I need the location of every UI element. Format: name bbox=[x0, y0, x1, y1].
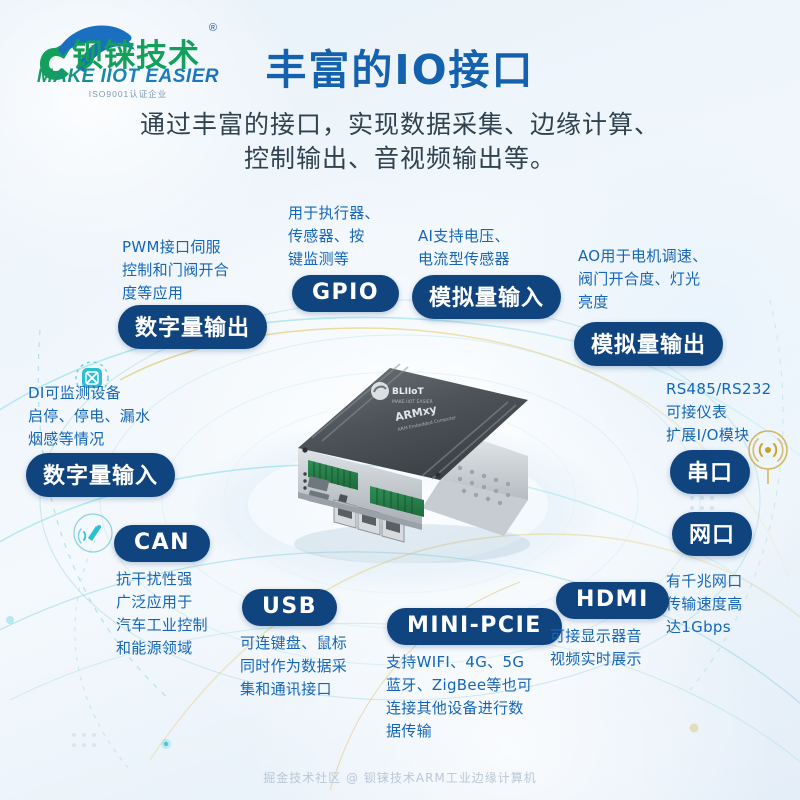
registered-mark: ® bbox=[209, 22, 217, 34]
desc-line: 同时作为数据采 bbox=[240, 655, 347, 678]
desc-ethernet-port: 有千兆网口 传输速度高 达1Gbps bbox=[666, 570, 743, 639]
desc-digital-input: DI可监测设备 启停、停电、漏水 烟感等情况 bbox=[28, 382, 150, 451]
desc-line: 启停、停电、漏水 bbox=[28, 405, 150, 428]
desc-line: DI可监测设备 bbox=[28, 382, 150, 405]
desc-line: 广泛应用于 bbox=[116, 591, 208, 614]
desc-analog-output: AO用于电机调速、 阀门开合度、灯光 亮度 bbox=[578, 245, 708, 314]
desc-mini-pcie: 支持WIFI、4G、5G 蓝牙、ZigBee等也可 连接其他设备进行数 据传输 bbox=[386, 651, 532, 743]
desc-line: 传输速度高 bbox=[666, 593, 743, 616]
desc-line: 亮度 bbox=[578, 291, 708, 314]
desc-line: 可连键盘、鼠标 bbox=[240, 632, 347, 655]
badge-hdmi[interactable]: HDMI bbox=[556, 582, 669, 619]
desc-digital-output: PWM接口伺服 控制和门阀开合 度等应用 bbox=[122, 236, 229, 305]
badge-mini-pcie[interactable]: MINI-PCIE bbox=[387, 608, 562, 645]
page-subtitle: 通过丰富的接口，实现数据采集、边缘计算、 控制输出、音视频输出等。 bbox=[0, 108, 800, 176]
badge-can[interactable]: CAN bbox=[114, 525, 210, 562]
badge-serial-port[interactable]: 串口 bbox=[670, 450, 750, 494]
badge-digital-input[interactable]: 数字量输入 bbox=[26, 453, 175, 497]
device-illustration: BLIIoT MAKE IIOT EASIER ARMxy ARM Embedd… bbox=[272, 348, 540, 563]
badge-digital-output[interactable]: 数字量输出 bbox=[118, 305, 267, 349]
desc-line: 传感器、按 bbox=[288, 225, 380, 248]
desc-line: 有千兆网口 bbox=[666, 570, 743, 593]
desc-line: 集和通讯接口 bbox=[240, 678, 347, 701]
desc-line: AO用于电机调速、 bbox=[578, 245, 708, 268]
desc-line: 键监测等 bbox=[288, 248, 380, 271]
desc-line: 据传输 bbox=[386, 720, 532, 743]
desc-line: 支持WIFI、4G、5G bbox=[386, 651, 532, 674]
svg-text:BLIIoT: BLIIoT bbox=[392, 387, 424, 397]
infographic-canvas: 钡铼技术 ® MAKE IIOT EASIER ISO9001认证企业 丰富的I… bbox=[0, 0, 800, 800]
page-title: 丰富的IO接口 bbox=[0, 36, 800, 96]
can-bus-icon bbox=[72, 512, 114, 559]
badge-analog-output[interactable]: 模拟量输出 bbox=[574, 322, 723, 366]
badge-analog-input[interactable]: 模拟量输入 bbox=[412, 275, 561, 319]
desc-serial-port: RS485/RS232 可接仪表 扩展I/O模块 bbox=[666, 378, 772, 447]
badge-usb[interactable]: USB bbox=[242, 589, 337, 626]
desc-line: 可接仪表 bbox=[666, 401, 772, 424]
desc-line: 蓝牙、ZigBee等也可 bbox=[386, 674, 532, 697]
desc-line: 连接其他设备进行数 bbox=[386, 697, 532, 720]
desc-line: 用于执行器、 bbox=[288, 202, 380, 225]
footer-watermark: 掘金技术社区 @ 钡铼技术ARM工业边缘计算机 bbox=[0, 769, 800, 786]
desc-line: 达1Gbps bbox=[666, 616, 743, 639]
badge-gpio[interactable]: GPIO bbox=[292, 275, 399, 312]
desc-usb: 可连键盘、鼠标 同时作为数据采 集和通讯接口 bbox=[240, 632, 347, 701]
subtitle-line-2: 控制输出、音视频输出等。 bbox=[0, 142, 800, 176]
desc-line: 可接显示器音 bbox=[550, 625, 642, 648]
desc-line: 控制和门阀开合 bbox=[122, 259, 229, 282]
desc-hdmi: 可接显示器音 视频实时展示 bbox=[550, 625, 642, 671]
desc-line: 和能源领域 bbox=[116, 637, 208, 660]
desc-line: 扩展I/O模块 bbox=[666, 424, 772, 447]
desc-line: PWM接口伺服 bbox=[122, 236, 229, 259]
desc-gpio: 用于执行器、 传感器、按 键监测等 bbox=[288, 202, 380, 271]
badge-ethernet-port[interactable]: 网口 bbox=[672, 512, 752, 556]
desc-line: 汽车工业控制 bbox=[116, 614, 208, 637]
desc-line: 视频实时展示 bbox=[550, 648, 642, 671]
desc-line: 抗干扰性强 bbox=[116, 568, 208, 591]
desc-analog-input: AI支持电压、 电流型传感器 bbox=[418, 225, 510, 271]
subtitle-line-1: 通过丰富的接口，实现数据采集、边缘计算、 bbox=[0, 108, 800, 142]
desc-line: 阀门开合度、灯光 bbox=[578, 268, 708, 291]
desc-line: 电流型传感器 bbox=[418, 248, 510, 271]
desc-line: 度等应用 bbox=[122, 282, 229, 305]
desc-line: RS485/RS232 bbox=[666, 378, 772, 401]
desc-can: 抗干扰性强 广泛应用于 汽车工业控制 和能源领域 bbox=[116, 568, 208, 660]
desc-line: AI支持电压、 bbox=[418, 225, 510, 248]
desc-line: 烟感等情况 bbox=[28, 428, 150, 451]
